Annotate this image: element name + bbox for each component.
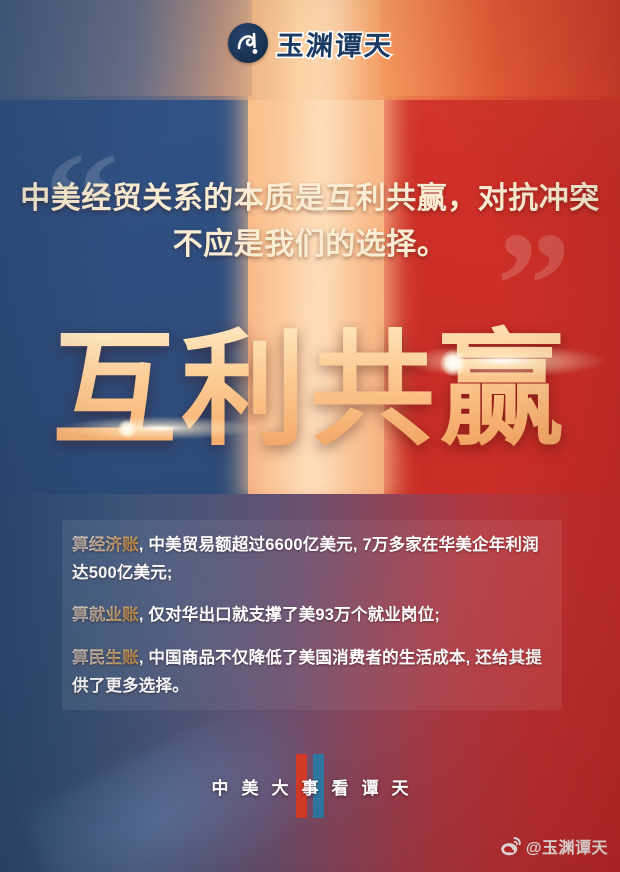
list-item-text: , 仅对华出口就支撑了美93万个就业岗位; [139,606,440,624]
body-list: 算经济账, 中美贸易额超过6600亿美元, 7万多家在华美企年利润达500亿美元… [72,532,554,701]
headline-text: 互利共赢 [0,322,620,462]
list-item: 算民生账, 中国商品不仅降低了美国消费者的生活成本, 还给其提供了更多选择。 [72,645,554,700]
quote-text: 中美经贸关系的本质是互利共赢，对抗冲突不应是我们的选择。 [14,176,606,267]
yuyuantantian-wave-icon [228,23,268,63]
weibo-watermark: @玉渊谭天 [500,834,608,858]
footer-tagline-block: 中美大事看谭天 [0,762,620,810]
brand-header: 玉渊谭天 [0,20,620,66]
weibo-icon [500,836,521,857]
list-item-text: , 中美贸易额超过6600亿美元, 7万多家在华美企年利润达500亿美元; [72,536,539,582]
brand-name: 玉渊谭天 [275,24,393,63]
list-item-lead: 算就业账 [72,606,139,624]
list-item: 算就业账, 仅对华出口就支撑了美93万个就业岗位; [72,602,554,630]
list-item: 算经济账, 中美贸易额超过6600亿美元, 7万多家在华美企年利润达500亿美元… [72,532,554,587]
footer-tagline-text: 中美大事看谭天 [199,774,422,799]
list-item-text: , 中国商品不仅降低了美国消费者的生活成本, 还给其提供了更多选择。 [72,649,542,695]
headline-block: 互利共赢 [0,322,620,472]
list-item-lead: 算民生账 [72,649,139,667]
list-item-lead: 算经济账 [72,536,139,554]
poster-canvas: 玉渊谭天 “ ” 中美经贸关系的本质是互利共赢，对抗冲突不应是我们的选择。 互利… [0,0,620,872]
weibo-handle: @玉渊谭天 [526,834,608,858]
